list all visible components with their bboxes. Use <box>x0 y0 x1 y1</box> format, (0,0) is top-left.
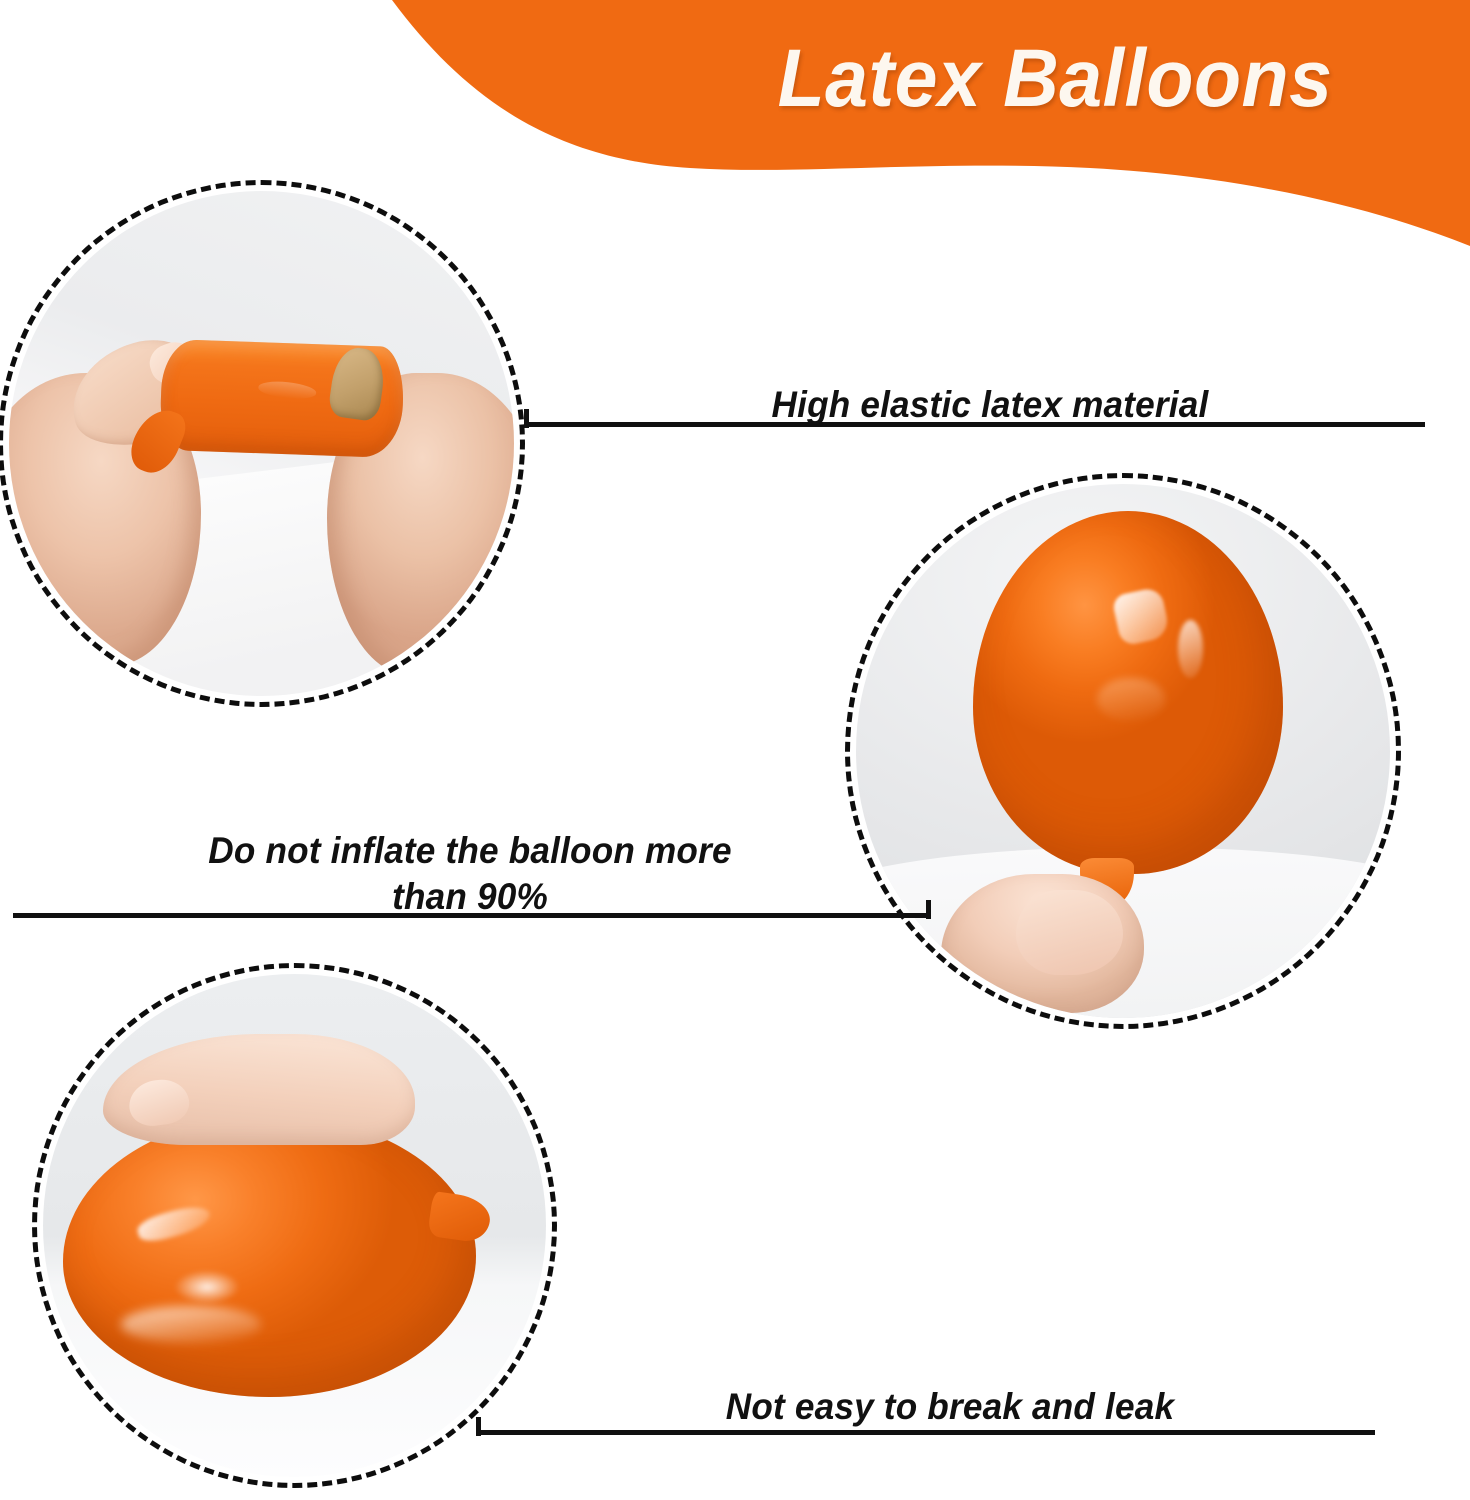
balloon-highlight-bottom <box>121 1306 261 1343</box>
latex-highlight <box>257 379 316 401</box>
photo-circle-inflated-balloon <box>845 473 1401 1029</box>
caption-not-easy-to-break: Not easy to break and leak <box>542 1386 1359 1428</box>
rule-not-easy-to-break <box>476 1430 1375 1435</box>
photo-inflated-balloon <box>856 484 1390 1018</box>
infographic-page: Latex Balloons High elastic latex materi… <box>0 0 1470 1500</box>
photo-pressed-balloon <box>43 974 546 1477</box>
balloon-highlight-primary <box>1111 586 1170 646</box>
page-title: Latex Balloons <box>712 36 1398 122</box>
balloon-highlight-mid <box>174 1270 240 1304</box>
caption-high-elastic: High elastic latex material <box>582 384 1399 426</box>
caption-do-not-overinflate: Do not inflate the balloon more than 90% <box>81 828 860 920</box>
flattened-balloon <box>63 1115 475 1397</box>
balloon-highlight-side <box>1178 620 1203 678</box>
balloon-highlight-lower <box>1097 678 1165 722</box>
holding-fingers <box>1016 890 1123 975</box>
caption-line-1: Do not inflate the balloon more <box>208 830 731 871</box>
balloon-highlight-top <box>135 1201 213 1246</box>
rule-end-cap-do-not-overinflate <box>926 900 931 919</box>
photo-circle-not-easy-to-break <box>32 963 557 1488</box>
photo-stretch-balloon <box>9 191 514 696</box>
photo-circle-high-elastic <box>0 180 525 707</box>
caption-line-2: than 90% <box>392 876 548 917</box>
